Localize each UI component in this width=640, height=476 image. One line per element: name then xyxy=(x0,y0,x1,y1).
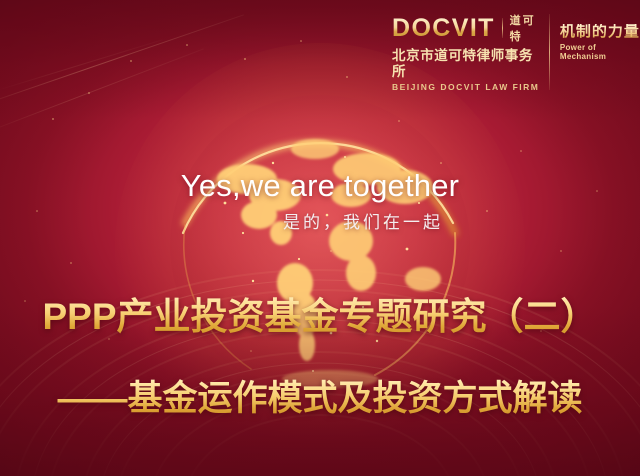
page-title: PPP产业投资基金专题研究（二） xyxy=(0,286,640,340)
brand-cn-wordmark: 道可特 xyxy=(510,12,540,44)
brand-logo[interactable]: DOCVIT 道可特 北京市道可特律师事务所 BEIJING DOCVIT LA… xyxy=(392,12,640,92)
logo-left-group: DOCVIT 道可特 北京市道可特律师事务所 BEIJING DOCVIT LA… xyxy=(392,12,549,92)
tagline-cn: 机制的力量 xyxy=(560,24,640,39)
logo-inner-divider xyxy=(502,18,503,38)
slogan-chinese: 是的，我们在一起 xyxy=(0,208,640,233)
brand-latin-wordmark: DOCVIT xyxy=(392,16,495,41)
logo-right-group: 机制的力量 Power of Mechanism xyxy=(560,12,640,61)
brand-row: DOCVIT 道可特 xyxy=(392,12,540,44)
slogan-english: Yes,we are together xyxy=(0,168,640,204)
page-subtitle: ——基金运作模式及投资方式解读 xyxy=(0,370,640,421)
firm-name-en: BEIJING DOCVIT LAW FIRM xyxy=(392,82,540,92)
logo-vertical-divider xyxy=(549,14,550,90)
tagline-en: Power of Mechanism xyxy=(560,43,640,61)
firm-name-cn: 北京市道可特律师事务所 xyxy=(392,48,540,79)
poster-canvas: DOCVIT 道可特 北京市道可特律师事务所 BEIJING DOCVIT LA… xyxy=(0,0,640,476)
